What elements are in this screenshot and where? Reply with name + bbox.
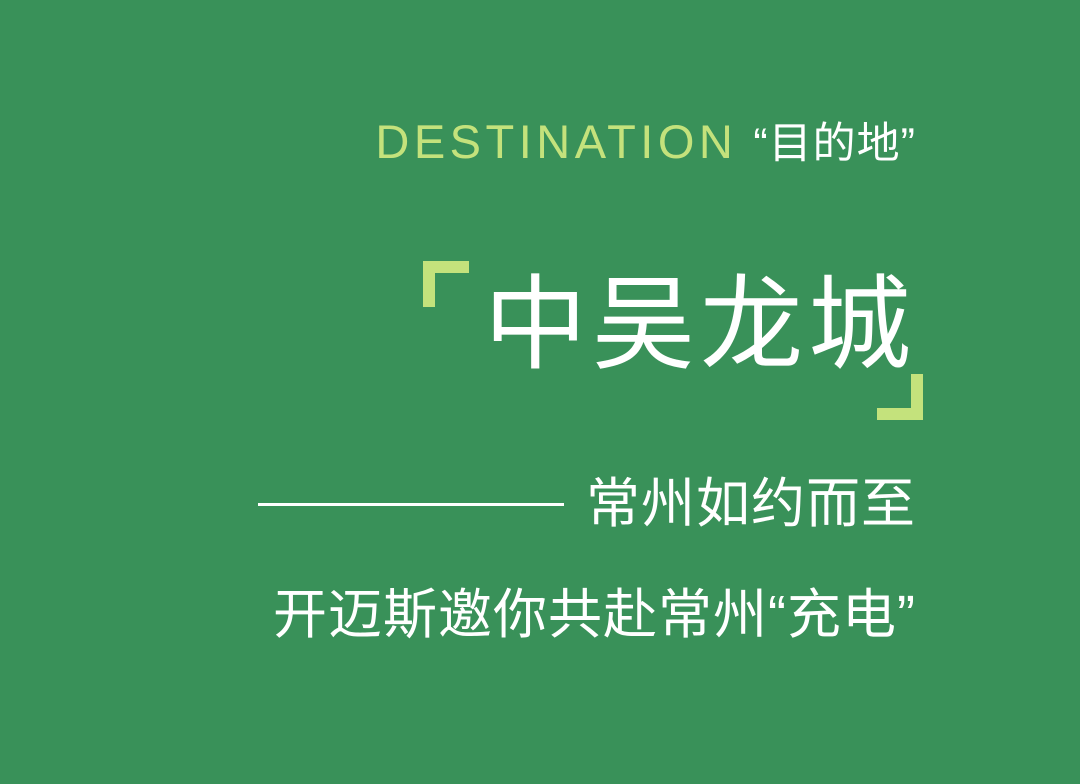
subtitle: 常州如约而至 [0, 472, 916, 536]
tagline-label: 开迈斯邀你共赴常州“充电” [273, 588, 916, 642]
page-title: 中吴龙城 [484, 273, 916, 376]
horizontal-rule-divider [258, 503, 564, 506]
corner-bracket-bottom-right-icon [877, 374, 923, 420]
eyebrow-english-label: DESTINATION [375, 118, 737, 165]
title-block: 中吴龙城 [0, 255, 916, 410]
poster-canvas: DESTINATION “目的地” 中吴龙城 常州如约而至 开迈斯邀你共赴常州“… [0, 0, 1080, 784]
tagline: 开迈斯邀你共赴常州“充电” [0, 583, 916, 647]
eyebrow: DESTINATION “目的地” [0, 118, 916, 180]
eyebrow-chinese-label: “目的地” [753, 123, 916, 166]
subtitle-label: 常州如约而至 [586, 477, 916, 531]
corner-bracket-top-left-icon [423, 261, 469, 307]
